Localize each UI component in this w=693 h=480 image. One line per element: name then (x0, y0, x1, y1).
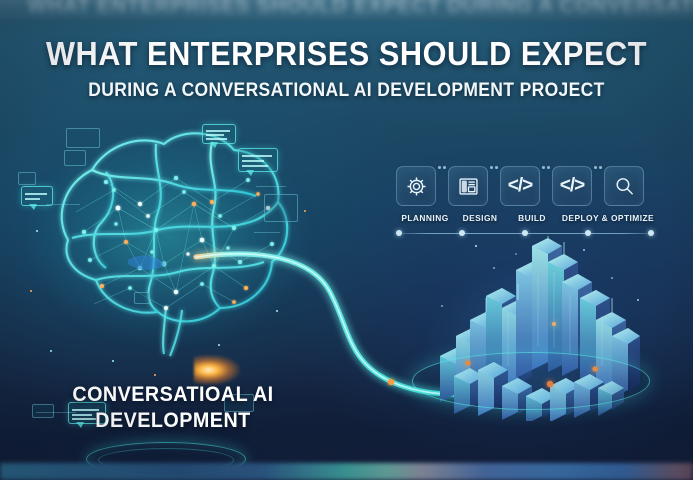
step-connector (488, 166, 500, 169)
data-panel-icon (134, 292, 150, 304)
process-steps: </> </> PLANNING DESIGN (396, 166, 658, 237)
label-deploy-optimize: DEPLOY & OPTIMIZE (558, 213, 658, 223)
poster-canvas: WHAT ENTERPRISES SHOULD EXPECT DURING A … (0, 0, 693, 480)
process-step-build[interactable]: </> (500, 166, 540, 206)
data-panel-icon (264, 194, 298, 222)
headline-block: WHAT ENTERPRISES SHOULD EXPECT DURING A … (0, 36, 693, 102)
city-base-ring (412, 352, 650, 410)
step-connector (436, 166, 448, 169)
process-timeline (396, 230, 658, 237)
code-icon: </> (560, 175, 584, 197)
step-connector (540, 166, 552, 169)
caption-line-1: CONVERSATIOAL AI (56, 382, 291, 408)
label-design: DESIGN (454, 213, 506, 223)
design-icon-box[interactable] (448, 166, 488, 206)
top-band-ghost-text: WHAT ENTERPRISES SHOULD EXPECT DURING A … (28, 0, 666, 19)
chat-bubble-icon (238, 148, 278, 172)
process-step-design[interactable] (448, 166, 488, 206)
build-icon-box[interactable]: </> (500, 166, 540, 206)
timeline-node[interactable] (522, 230, 528, 236)
process-step-optimize[interactable] (604, 166, 644, 206)
timeline-node[interactable] (585, 230, 591, 236)
data-panel-icon (18, 172, 36, 185)
chat-bubble-icon (21, 186, 53, 206)
data-panel-icon (64, 150, 86, 166)
gear-icon (405, 175, 428, 198)
label-build: BUILD (506, 213, 558, 223)
bottom-blurred-band (0, 463, 693, 480)
glowing-orange-synapse (194, 355, 240, 385)
process-icon-row: </> </> (396, 166, 658, 206)
label-planning: PLANNING (396, 213, 454, 223)
process-step-deploy[interactable]: </> (552, 166, 592, 206)
page-title: WHAT ENTERPRISES SHOULD EXPECT (24, 36, 668, 72)
page-subtitle: DURING A CONVERSATIONAL AI DEVELOPMENT P… (28, 80, 666, 102)
planning-icon-box[interactable] (396, 166, 436, 206)
caption-block: CONVERSATIOAL AI DEVELOPMENT (48, 382, 298, 434)
brain-network-svg (6, 112, 336, 377)
data-panel-icon (66, 128, 100, 148)
process-step-planning[interactable] (396, 166, 436, 206)
timeline-node[interactable] (396, 230, 402, 236)
timeline-node[interactable] (648, 230, 654, 236)
ai-brain-illustration (6, 112, 336, 377)
caption-line-2: DEVELOPMENT (56, 408, 291, 434)
code-icon: </> (508, 175, 532, 197)
deploy-icon-box[interactable]: </> (552, 166, 592, 206)
top-blurred-band: WHAT ENTERPRISES SHOULD EXPECT DURING A … (0, 0, 693, 22)
isometric-city-illustration (398, 236, 668, 421)
timeline-node[interactable] (459, 230, 465, 236)
magnifier-icon (613, 175, 636, 198)
chat-bubble-icon (202, 124, 236, 144)
optimize-icon-box[interactable] (604, 166, 644, 206)
step-connector (592, 166, 604, 169)
wireframe-layout-icon (457, 175, 480, 198)
process-step-labels: PLANNING DESIGN BUILD DEPLOY & OPTIMIZE (396, 213, 658, 223)
